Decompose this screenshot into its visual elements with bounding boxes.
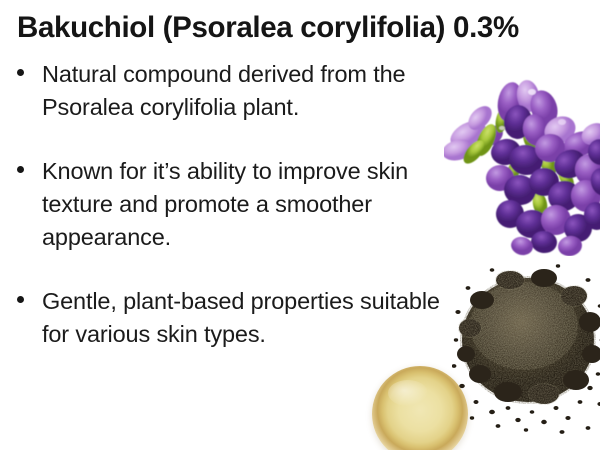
bullet-dot-icon [17, 69, 24, 76]
babchi-seed-pile-image [452, 262, 600, 434]
list-item: Known for it’s ability to improve skin t… [14, 155, 444, 255]
bullet-list: Natural compound derived from the Psoral… [14, 58, 444, 352]
bakuchiol-oil-bowl-image [372, 366, 468, 450]
seed-pile-graphic [452, 262, 600, 434]
slide-canvas: Bakuchiol (Psoralea corylifolia) 0.3% Na… [0, 0, 600, 450]
list-item: Gentle, plant-based properties suitable … [14, 285, 444, 352]
bullet-dot-icon [17, 296, 24, 303]
list-item-text: Natural compound derived from the Psoral… [42, 61, 405, 120]
page-title: Bakuchiol (Psoralea corylifolia) 0.3% [17, 11, 592, 44]
flower-graphic [444, 78, 600, 256]
psoralea-flower-image [444, 78, 600, 256]
list-item-text: Gentle, plant-based properties suitable … [42, 288, 440, 347]
scattered-seeds [452, 264, 600, 434]
bowl-highlight [388, 380, 428, 406]
bullet-dot-icon [17, 166, 24, 173]
list-item-text: Known for it’s ability to improve skin t… [42, 158, 408, 251]
list-item: Natural compound derived from the Psoral… [14, 58, 444, 125]
